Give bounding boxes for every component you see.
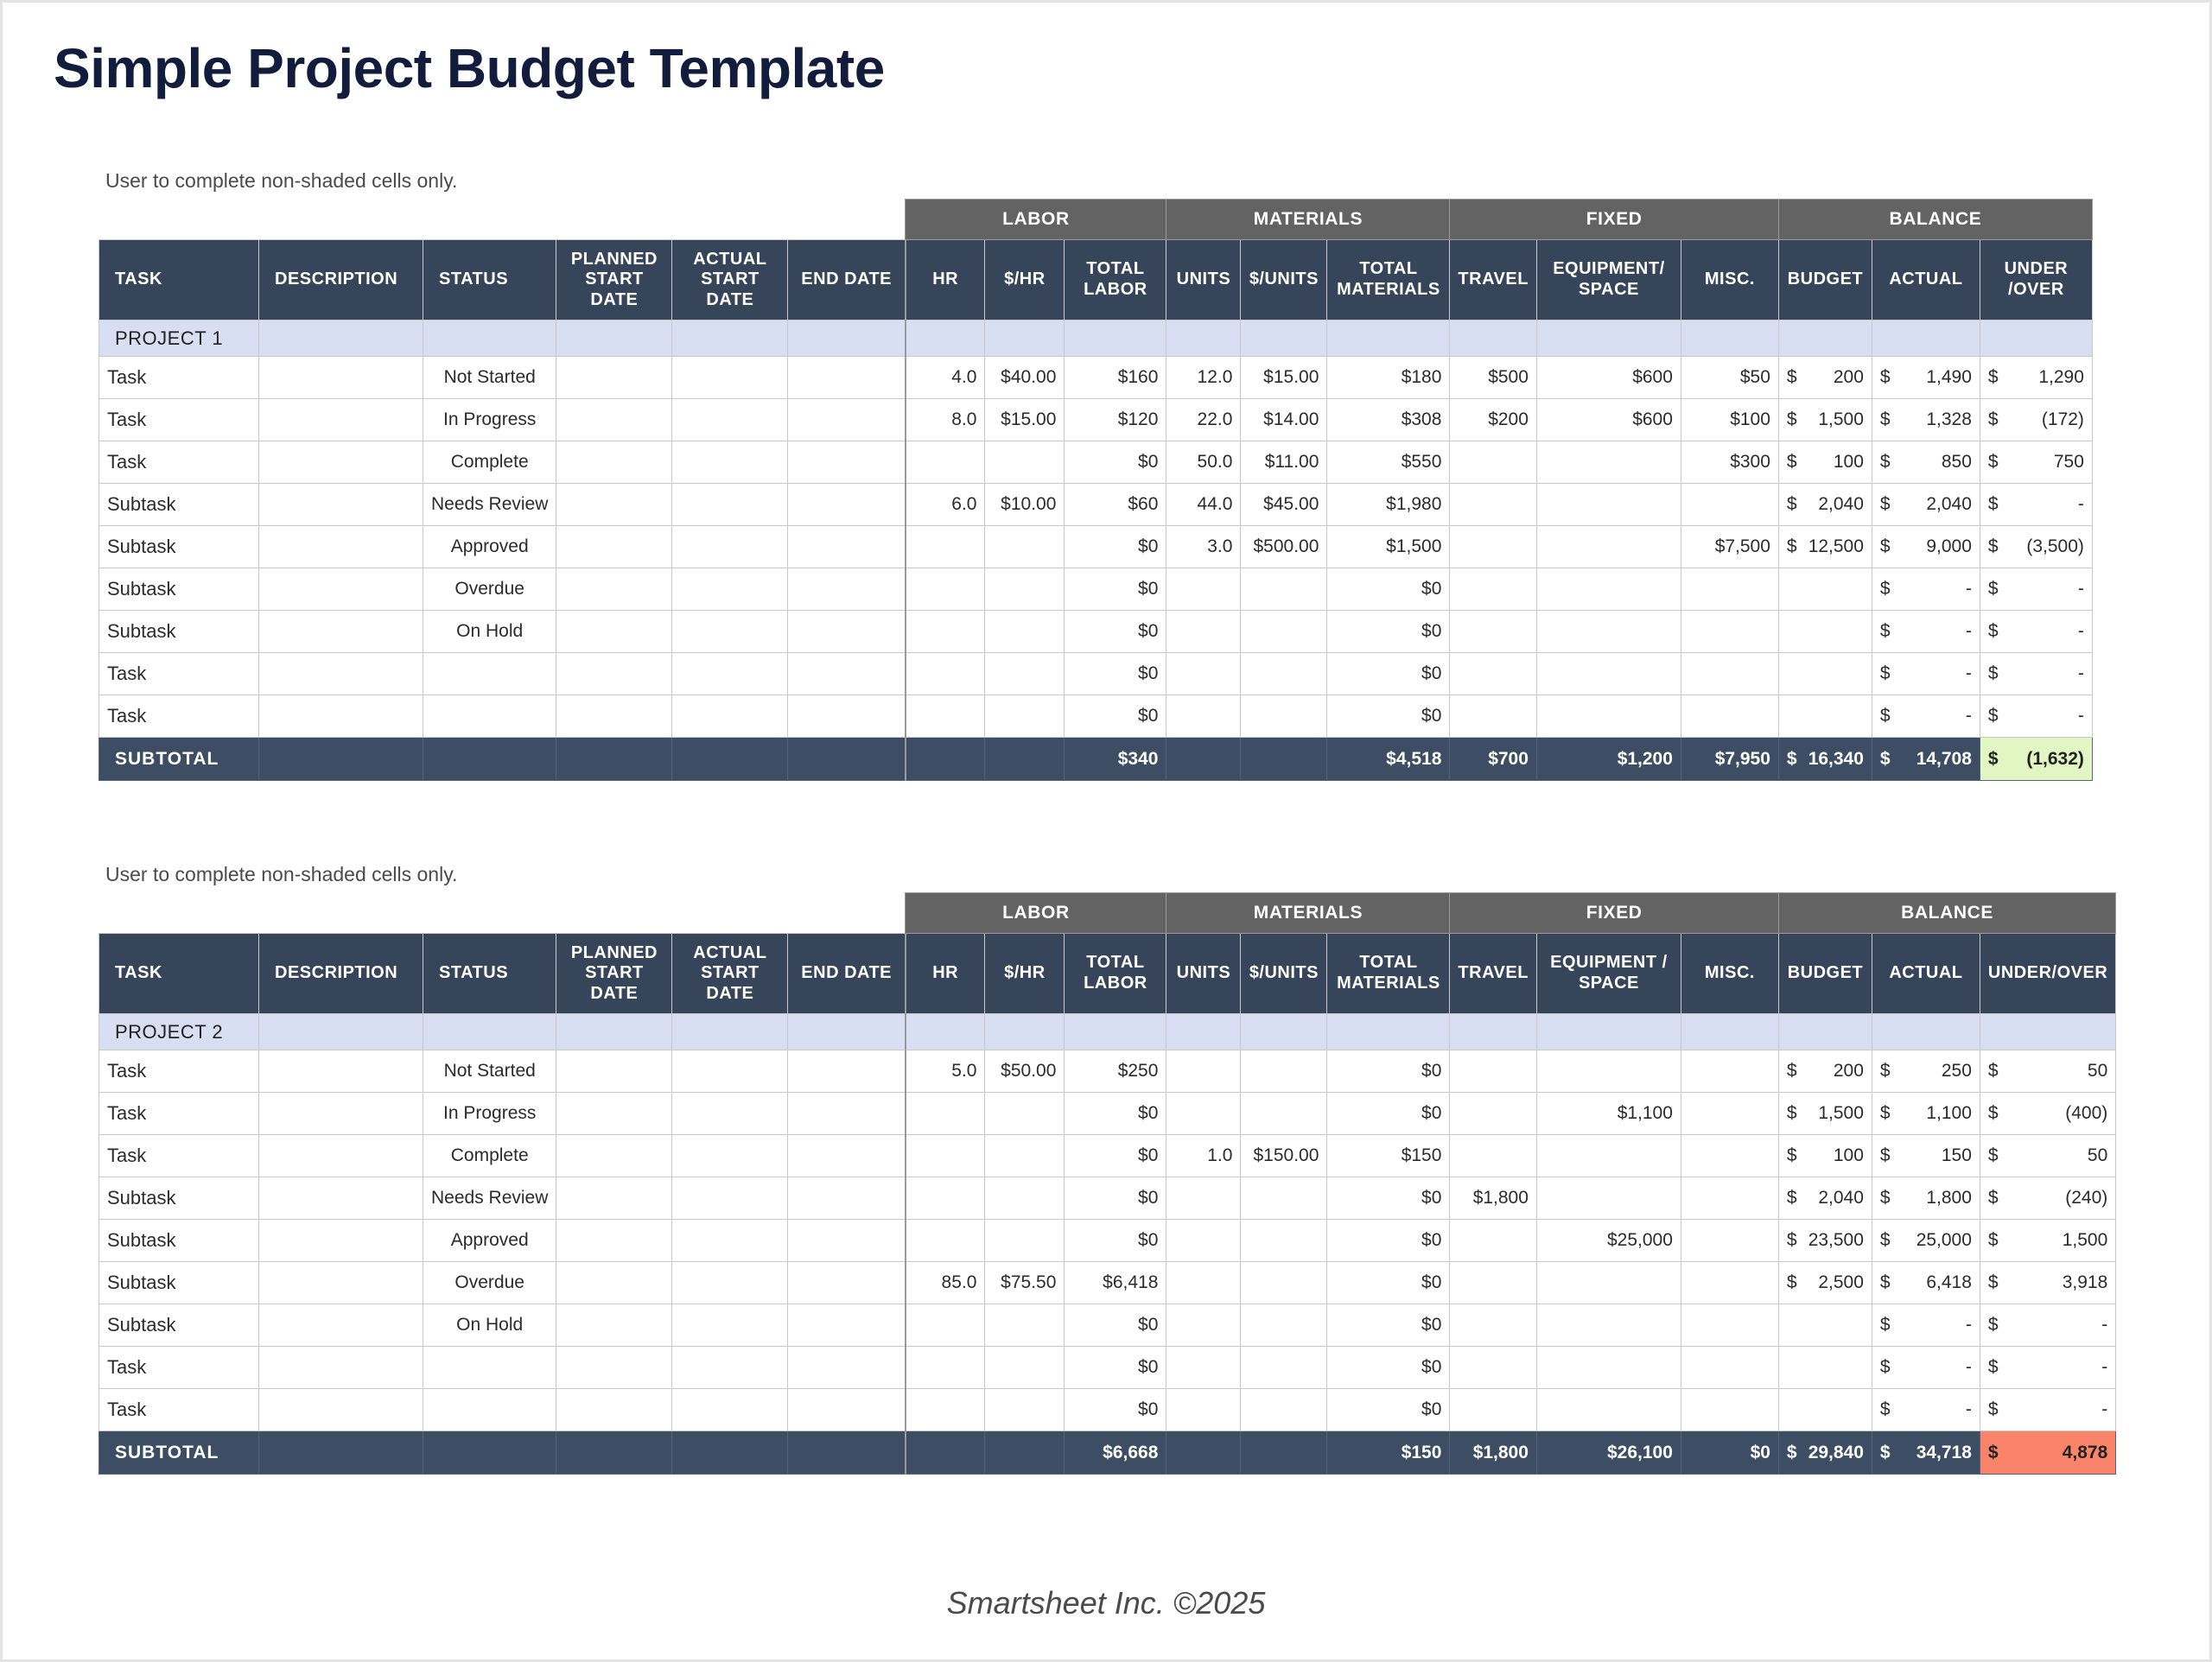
cell-planned-start-date[interactable]	[556, 484, 672, 526]
cell-equipment-space[interactable]	[1536, 526, 1681, 568]
cell-description[interactable]	[259, 484, 423, 526]
cell-task[interactable]: Subtask	[99, 526, 259, 568]
cell-hr[interactable]	[906, 568, 985, 611]
cell-equipment-space[interactable]	[1536, 1050, 1681, 1093]
project-row-cell[interactable]	[985, 1014, 1065, 1050]
cell-status[interactable]: On Hold	[423, 611, 556, 653]
cell-actual-start-date[interactable]	[672, 653, 788, 695]
cell-status[interactable]: Needs Review	[423, 484, 556, 526]
cell-budget[interactable]	[1778, 1347, 1872, 1389]
project-row-cell[interactable]	[556, 320, 672, 357]
cell-end-date[interactable]	[788, 1220, 906, 1262]
project-row-cell[interactable]	[1681, 320, 1778, 357]
cell-actual-start-date[interactable]	[672, 399, 788, 441]
cell-units[interactable]	[1166, 611, 1241, 653]
cell-cost-per-unit[interactable]	[1241, 1050, 1327, 1093]
cell-budget[interactable]	[1778, 1389, 1872, 1431]
cell-cost-per-unit[interactable]	[1241, 1347, 1327, 1389]
cell-units[interactable]: 44.0	[1166, 484, 1241, 526]
project-row-cell[interactable]	[259, 1014, 423, 1050]
cell-travel[interactable]	[1450, 1220, 1537, 1262]
cell-description[interactable]	[259, 441, 423, 484]
cell-cost-per-unit[interactable]: $14.00	[1241, 399, 1327, 441]
cell-cost-per-unit[interactable]	[1241, 653, 1327, 695]
cell-planned-start-date[interactable]	[556, 1347, 672, 1389]
cell-travel[interactable]	[1450, 526, 1537, 568]
project-row-cell[interactable]	[556, 1014, 672, 1050]
cell-description[interactable]	[259, 695, 423, 738]
cell-status[interactable]: Complete	[423, 1135, 556, 1177]
cell-status[interactable]: Complete	[423, 441, 556, 484]
cell-misc[interactable]	[1681, 1093, 1778, 1135]
project-row-cell[interactable]	[259, 320, 423, 357]
cell-description[interactable]	[259, 399, 423, 441]
cell-units[interactable]	[1166, 695, 1241, 738]
cell-status[interactable]	[423, 695, 556, 738]
cell-task[interactable]: Task	[99, 399, 259, 441]
cell-description[interactable]	[259, 1347, 423, 1389]
cell-budget[interactable]: $1,500	[1778, 1093, 1872, 1135]
cell-misc[interactable]	[1681, 1262, 1778, 1304]
cell-units[interactable]: 12.0	[1166, 357, 1241, 399]
group-header-materials: MATERIALS	[1166, 893, 1450, 934]
cell-hr[interactable]: 6.0	[906, 484, 985, 526]
cell-rate-per-hr[interactable]	[985, 1389, 1065, 1431]
cell-actual-start-date[interactable]	[672, 357, 788, 399]
cell-planned-start-date[interactable]	[556, 1050, 672, 1093]
project-row-cell[interactable]	[985, 320, 1065, 357]
cell-planned-start-date[interactable]	[556, 568, 672, 611]
cell-budget[interactable]: $2,040	[1778, 484, 1872, 526]
cell-cost-per-unit[interactable]: $15.00	[1241, 357, 1327, 399]
cell-planned-start-date[interactable]	[556, 1093, 672, 1135]
cell-rate-per-hr[interactable]: $15.00	[985, 399, 1065, 441]
cell-task[interactable]: Task	[99, 441, 259, 484]
cell-planned-start-date[interactable]	[556, 357, 672, 399]
cell-hr[interactable]: 4.0	[906, 357, 985, 399]
cell-equipment-space[interactable]: $600	[1536, 399, 1681, 441]
cell-end-date[interactable]	[788, 1262, 906, 1304]
cell-travel[interactable]	[1450, 695, 1537, 738]
cell-planned-start-date[interactable]	[556, 1389, 672, 1431]
cell-rate-per-hr[interactable]	[985, 568, 1065, 611]
cell-rate-per-hr[interactable]	[985, 526, 1065, 568]
project-row-cell[interactable]	[788, 320, 906, 357]
cell-budget[interactable]: $200	[1778, 357, 1872, 399]
project-row-cell[interactable]	[1166, 1014, 1241, 1050]
cell-description[interactable]	[259, 1093, 423, 1135]
cell-travel[interactable]: $200	[1450, 399, 1537, 441]
project-row-cell[interactable]	[1065, 320, 1166, 357]
cell-status[interactable]	[423, 1389, 556, 1431]
cell-description[interactable]	[259, 1135, 423, 1177]
cell-actual-start-date[interactable]	[672, 1050, 788, 1093]
cell-cost-per-unit[interactable]	[1241, 611, 1327, 653]
cell-travel[interactable]	[1450, 441, 1537, 484]
cell-budget[interactable]: $200	[1778, 1050, 1872, 1093]
cell-planned-start-date[interactable]	[556, 611, 672, 653]
cell-units[interactable]	[1166, 1220, 1241, 1262]
project-row-cell[interactable]	[1872, 320, 1980, 357]
cell-budget[interactable]	[1778, 695, 1872, 738]
cell-misc[interactable]	[1681, 1347, 1778, 1389]
cell-end-date[interactable]	[788, 611, 906, 653]
cell-misc[interactable]	[1681, 1304, 1778, 1347]
cell-equipment-space[interactable]	[1536, 695, 1681, 738]
cell-rate-per-hr[interactable]	[985, 653, 1065, 695]
cell-end-date[interactable]	[788, 357, 906, 399]
cell-description[interactable]	[259, 1389, 423, 1431]
cell-end-date[interactable]	[788, 1304, 906, 1347]
project-row-cell[interactable]	[1065, 1014, 1166, 1050]
cell-hr[interactable]	[906, 1347, 985, 1389]
cell-units[interactable]	[1166, 1347, 1241, 1389]
cell-equipment-space[interactable]: $1,100	[1536, 1093, 1681, 1135]
cell-rate-per-hr[interactable]: $50.00	[985, 1050, 1065, 1093]
cell-equipment-space[interactable]	[1536, 611, 1681, 653]
cell-status[interactable]: In Progress	[423, 1093, 556, 1135]
cell-hr[interactable]	[906, 1093, 985, 1135]
cell-planned-start-date[interactable]	[556, 653, 672, 695]
cell-rate-per-hr[interactable]	[985, 1220, 1065, 1262]
cell-end-date[interactable]	[788, 695, 906, 738]
cell-budget[interactable]: $1,500	[1778, 399, 1872, 441]
cell-rate-per-hr[interactable]	[985, 1135, 1065, 1177]
cell-status[interactable]: Not Started	[423, 357, 556, 399]
cell-hr[interactable]	[906, 526, 985, 568]
project-row-cell[interactable]	[423, 1014, 556, 1050]
cell-hr[interactable]	[906, 611, 985, 653]
project-row-cell[interactable]	[1980, 320, 2092, 357]
cell-cost-per-unit[interactable]: $11.00	[1241, 441, 1327, 484]
cell-budget[interactable]: $100	[1778, 441, 1872, 484]
cell-equipment-space[interactable]: $600	[1536, 357, 1681, 399]
cell-task[interactable]: Subtask	[99, 1220, 259, 1262]
cell-equipment-space[interactable]: $25,000	[1536, 1220, 1681, 1262]
cell-task[interactable]: Subtask	[99, 568, 259, 611]
subtotal-end-date	[788, 1431, 906, 1475]
cell-actual-start-date[interactable]	[672, 1177, 788, 1220]
cell-description[interactable]	[259, 611, 423, 653]
cell-end-date[interactable]	[788, 441, 906, 484]
cell-travel[interactable]	[1450, 1262, 1537, 1304]
cell-travel[interactable]: $500	[1450, 357, 1537, 399]
cell-task[interactable]: Subtask	[99, 1177, 259, 1220]
cell-status[interactable]: On Hold	[423, 1304, 556, 1347]
project-row-cell[interactable]	[1241, 320, 1327, 357]
table-row: Task$0$0$-$-	[99, 1389, 2116, 1431]
cell-end-date[interactable]	[788, 1389, 906, 1431]
cell-travel[interactable]	[1450, 568, 1537, 611]
cell-misc[interactable]	[1681, 1220, 1778, 1262]
cell-rate-per-hr[interactable]	[985, 441, 1065, 484]
project-row-cell[interactable]	[423, 320, 556, 357]
cell-travel[interactable]: $1,800	[1450, 1177, 1537, 1220]
cell-units[interactable]	[1166, 1262, 1241, 1304]
cell-actual-start-date[interactable]	[672, 526, 788, 568]
cell-description[interactable]	[259, 1050, 423, 1093]
cell-actual-start-date[interactable]	[672, 1262, 788, 1304]
cell-task[interactable]: Subtask	[99, 611, 259, 653]
cell-end-date[interactable]	[788, 1093, 906, 1135]
cell-task[interactable]: Subtask	[99, 1304, 259, 1347]
cell-hr[interactable]	[906, 1304, 985, 1347]
cell-total-labor: $0	[1065, 653, 1166, 695]
cell-hr[interactable]: 85.0	[906, 1262, 985, 1304]
cell-status[interactable]: Approved	[423, 526, 556, 568]
cell-equipment-space[interactable]	[1536, 484, 1681, 526]
cell-end-date[interactable]	[788, 526, 906, 568]
cell-description[interactable]	[259, 1262, 423, 1304]
project-row-cell[interactable]	[1778, 320, 1872, 357]
cell-description[interactable]	[259, 568, 423, 611]
cell-units[interactable]	[1166, 1177, 1241, 1220]
cell-rate-per-hr[interactable]	[985, 1093, 1065, 1135]
cell-equipment-space[interactable]	[1536, 653, 1681, 695]
cell-end-date[interactable]	[788, 1177, 906, 1220]
cell-cost-per-unit[interactable]: $500.00	[1241, 526, 1327, 568]
cell-total-labor: $0	[1065, 1304, 1166, 1347]
cell-units[interactable]: 50.0	[1166, 441, 1241, 484]
cell-actual-start-date[interactable]	[672, 695, 788, 738]
cell-travel[interactable]	[1450, 1050, 1537, 1093]
project-row-cell[interactable]	[906, 320, 985, 357]
cell-budget[interactable]: $23,500	[1778, 1220, 1872, 1262]
project-row-cell[interactable]	[1872, 1014, 1980, 1050]
cell-end-date[interactable]	[788, 1050, 906, 1093]
cell-actual-start-date[interactable]	[672, 1347, 788, 1389]
project-row-cell[interactable]	[788, 1014, 906, 1050]
cell-budget[interactable]	[1778, 653, 1872, 695]
cell-task[interactable]: Task	[99, 357, 259, 399]
cell-rate-per-hr[interactable]	[985, 695, 1065, 738]
cell-travel[interactable]	[1450, 1093, 1537, 1135]
cell-actual: $-	[1872, 611, 1980, 653]
cell-actual-start-date[interactable]	[672, 1093, 788, 1135]
cell-hr[interactable]	[906, 1135, 985, 1177]
cell-equipment-space[interactable]	[1536, 1304, 1681, 1347]
cell-planned-start-date[interactable]	[556, 1177, 672, 1220]
cell-misc[interactable]	[1681, 611, 1778, 653]
cell-status[interactable]: In Progress	[423, 399, 556, 441]
project-row-cell[interactable]	[1536, 320, 1681, 357]
cell-status[interactable]: Overdue	[423, 1262, 556, 1304]
project-row-cell[interactable]	[672, 320, 788, 357]
cell-cost-per-unit[interactable]	[1241, 695, 1327, 738]
cell-budget[interactable]: $100	[1778, 1135, 1872, 1177]
cell-misc[interactable]	[1681, 568, 1778, 611]
cell-task[interactable]: Task	[99, 1050, 259, 1093]
cell-end-date[interactable]	[788, 484, 906, 526]
cell-total-labor: $250	[1065, 1050, 1166, 1093]
cell-task[interactable]: Task	[99, 653, 259, 695]
cell-cost-per-unit[interactable]	[1241, 568, 1327, 611]
cell-task[interactable]: Task	[99, 695, 259, 738]
cell-equipment-space[interactable]	[1536, 1262, 1681, 1304]
cell-cost-per-unit[interactable]	[1241, 1220, 1327, 1262]
cell-cost-per-unit[interactable]	[1241, 1262, 1327, 1304]
project-row-cell[interactable]	[1980, 1014, 2115, 1050]
cell-status[interactable]	[423, 1347, 556, 1389]
cell-actual-start-date[interactable]	[672, 568, 788, 611]
cell-units[interactable]	[1166, 1304, 1241, 1347]
cell-status[interactable]: Not Started	[423, 1050, 556, 1093]
project-row-cell[interactable]	[1778, 1014, 1872, 1050]
cell-status[interactable]	[423, 653, 556, 695]
cell-task[interactable]: Task	[99, 1093, 259, 1135]
cell-end-date[interactable]	[788, 1347, 906, 1389]
cell-misc[interactable]	[1681, 1135, 1778, 1177]
cell-description[interactable]	[259, 653, 423, 695]
cell-cost-per-unit[interactable]	[1241, 1389, 1327, 1431]
cell-equipment-space[interactable]	[1536, 441, 1681, 484]
cell-planned-start-date[interactable]	[556, 695, 672, 738]
subtotal-travel: $700	[1450, 738, 1537, 781]
cell-travel[interactable]	[1450, 611, 1537, 653]
cell-actual-start-date[interactable]	[672, 1135, 788, 1177]
column-header-total-materials: TOTAL MATERIALS	[1327, 240, 1450, 320]
cell-cost-per-unit[interactable]	[1241, 1093, 1327, 1135]
project-row-cell[interactable]	[1450, 1014, 1537, 1050]
cell-budget[interactable]	[1778, 1304, 1872, 1347]
project-row-cell[interactable]	[1681, 1014, 1778, 1050]
cell-description[interactable]	[259, 357, 423, 399]
cell-rate-per-hr[interactable]	[985, 1304, 1065, 1347]
cell-cost-per-unit[interactable]	[1241, 1304, 1327, 1347]
cell-end-date[interactable]	[788, 568, 906, 611]
cell-misc[interactable]	[1681, 1050, 1778, 1093]
cell-budget[interactable]: $12,500	[1778, 526, 1872, 568]
cell-hr[interactable]	[906, 653, 985, 695]
cell-travel[interactable]	[1450, 1389, 1537, 1431]
cell-status[interactable]: Needs Review	[423, 1177, 556, 1220]
cell-misc[interactable]	[1681, 1177, 1778, 1220]
cell-under-over: $1,500	[1980, 1220, 2115, 1262]
cell-equipment-space[interactable]	[1536, 1347, 1681, 1389]
project-row-cell[interactable]	[1166, 320, 1241, 357]
cell-planned-start-date[interactable]	[556, 399, 672, 441]
cell-misc[interactable]: $300	[1681, 441, 1778, 484]
group-header-labor: LABOR	[906, 200, 1166, 240]
cell-units[interactable]: 22.0	[1166, 399, 1241, 441]
cell-task[interactable]: Subtask	[99, 1262, 259, 1304]
cell-budget[interactable]	[1778, 568, 1872, 611]
cell-planned-start-date[interactable]	[556, 1220, 672, 1262]
cell-actual-start-date[interactable]	[672, 1304, 788, 1347]
cell-task[interactable]: Subtask	[99, 484, 259, 526]
cell-misc[interactable]	[1681, 695, 1778, 738]
cell-planned-start-date[interactable]	[556, 1304, 672, 1347]
cell-planned-start-date[interactable]	[556, 1135, 672, 1177]
cell-description[interactable]	[259, 1177, 423, 1220]
project-row-cell[interactable]	[906, 1014, 985, 1050]
cell-hr[interactable]: 5.0	[906, 1050, 985, 1093]
cell-actual-start-date[interactable]	[672, 441, 788, 484]
cell-planned-start-date[interactable]	[556, 1262, 672, 1304]
cell-units[interactable]	[1166, 1389, 1241, 1431]
cell-end-date[interactable]	[788, 653, 906, 695]
cell-task[interactable]: Task	[99, 1389, 259, 1431]
cell-hr[interactable]: 8.0	[906, 399, 985, 441]
table-row: SubtaskOn Hold$0$0$-$-	[99, 611, 2093, 653]
cell-hr[interactable]	[906, 1177, 985, 1220]
cell-description[interactable]	[259, 1220, 423, 1262]
cell-rate-per-hr[interactable]: $40.00	[985, 357, 1065, 399]
cell-hr[interactable]	[906, 695, 985, 738]
cell-misc[interactable]: $7,500	[1681, 526, 1778, 568]
cell-status[interactable]: Approved	[423, 1220, 556, 1262]
cell-units[interactable]	[1166, 1093, 1241, 1135]
cell-cost-per-unit[interactable]: $150.00	[1241, 1135, 1327, 1177]
cell-equipment-space[interactable]	[1536, 568, 1681, 611]
cell-units[interactable]	[1166, 568, 1241, 611]
cell-misc[interactable]: $50	[1681, 357, 1778, 399]
cell-cost-per-unit[interactable]: $45.00	[1241, 484, 1327, 526]
cell-equipment-space[interactable]	[1536, 1389, 1681, 1431]
cell-units[interactable]	[1166, 653, 1241, 695]
cell-end-date[interactable]	[788, 1135, 906, 1177]
cell-hr[interactable]	[906, 1220, 985, 1262]
cell-actual-start-date[interactable]	[672, 1389, 788, 1431]
cell-cost-per-unit[interactable]	[1241, 1177, 1327, 1220]
cell-travel[interactable]	[1450, 653, 1537, 695]
cell-budget[interactable]: $2,040	[1778, 1177, 1872, 1220]
cell-travel[interactable]	[1450, 1347, 1537, 1389]
cell-misc[interactable]: $100	[1681, 399, 1778, 441]
cell-travel[interactable]	[1450, 1304, 1537, 1347]
cell-travel[interactable]	[1450, 484, 1537, 526]
cell-actual-start-date[interactable]	[672, 484, 788, 526]
cell-misc[interactable]	[1681, 653, 1778, 695]
cell-misc[interactable]	[1681, 484, 1778, 526]
cell-task[interactable]: Task	[99, 1347, 259, 1389]
cell-hr[interactable]	[906, 1389, 985, 1431]
cell-units[interactable]: 1.0	[1166, 1135, 1241, 1177]
cell-actual-start-date[interactable]	[672, 611, 788, 653]
project-row-cell[interactable]	[1450, 320, 1537, 357]
cell-under-over: $(172)	[1980, 399, 2092, 441]
cell-rate-per-hr[interactable]	[985, 1347, 1065, 1389]
cell-end-date[interactable]	[788, 399, 906, 441]
cell-budget[interactable]	[1778, 611, 1872, 653]
project-row-cell[interactable]	[1327, 1014, 1450, 1050]
project-row-cell[interactable]	[1536, 1014, 1681, 1050]
project-row-cell[interactable]	[1241, 1014, 1327, 1050]
project-row-cell[interactable]	[1327, 320, 1450, 357]
cell-status[interactable]: Overdue	[423, 568, 556, 611]
cell-description[interactable]	[259, 1304, 423, 1347]
cell-equipment-space[interactable]	[1536, 1135, 1681, 1177]
cell-misc[interactable]	[1681, 1389, 1778, 1431]
project-row-cell[interactable]	[672, 1014, 788, 1050]
cell-actual-start-date[interactable]	[672, 1220, 788, 1262]
cell-units[interactable]	[1166, 1050, 1241, 1093]
subtotal-rate	[985, 738, 1065, 781]
cell-description[interactable]	[259, 526, 423, 568]
cell-equipment-space[interactable]	[1536, 1177, 1681, 1220]
cell-planned-start-date[interactable]	[556, 526, 672, 568]
cell-task[interactable]: Task	[99, 1135, 259, 1177]
cell-units[interactable]: 3.0	[1166, 526, 1241, 568]
cell-hr[interactable]	[906, 441, 985, 484]
cell-rate-per-hr[interactable]: $75.50	[985, 1262, 1065, 1304]
cell-budget[interactable]: $2,500	[1778, 1262, 1872, 1304]
cell-rate-per-hr[interactable]	[985, 611, 1065, 653]
cell-rate-per-hr[interactable]	[985, 1177, 1065, 1220]
cell-rate-per-hr[interactable]: $10.00	[985, 484, 1065, 526]
cell-planned-start-date[interactable]	[556, 441, 672, 484]
cell-travel[interactable]	[1450, 1135, 1537, 1177]
